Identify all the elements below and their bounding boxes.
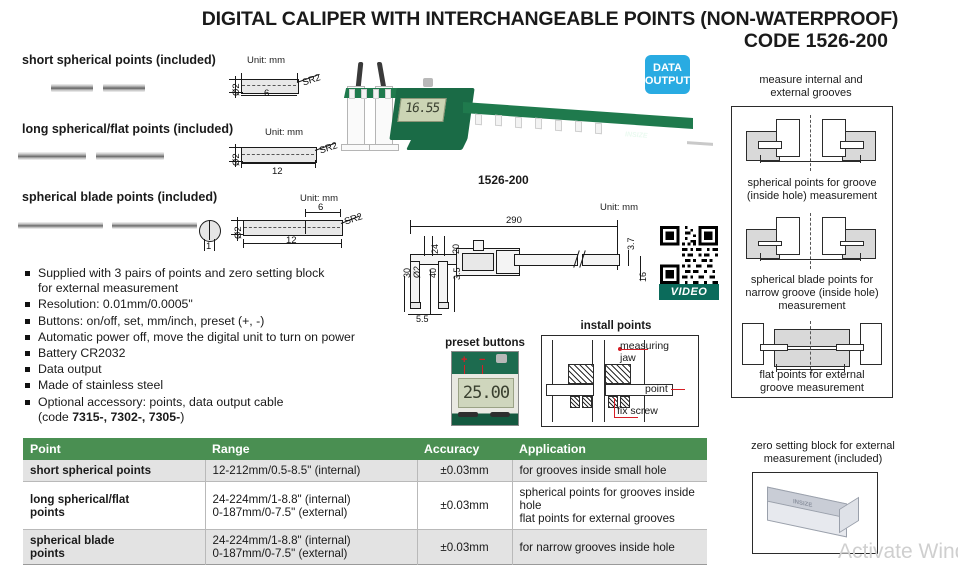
product-heading-long-spherical: long spherical/flat points (included) [22,122,233,136]
preset-lcd: 25.00 [458,378,514,408]
dim-beam-thickness: 3.7 [626,237,636,250]
cell-application: spherical points for grooves inside hole… [512,482,707,530]
table-row: short spherical points 12-212mm/0.5-8.5"… [23,460,707,482]
dim-radius-3: SR2 [343,211,364,227]
groove-measurement-panel: spherical points for groove (inside hole… [731,106,893,398]
badge-line-2: OUTPUT [645,75,690,88]
table-row: long spherical/flat points 24-224mm/1-8.… [23,482,707,530]
cell-range: 24-224mm/1-8.8" (internal) 0-187mm/0-7.5… [205,530,417,565]
dim-jaw-inner: 20 [451,244,461,254]
col-header-point: Point [23,438,205,460]
dim-point-diameter: Ø2 [412,266,422,278]
optional-codes: 7315-, 7302-, 7305- [72,410,180,424]
col-header-accuracy: Accuracy [417,438,512,460]
cell-range: 24-224mm/1-8.8" (internal) 0-187mm/0-7.5… [205,482,417,530]
install-points-title: install points [546,320,686,332]
product-heading-short-spherical: short spherical points (included) [22,53,216,67]
cell-accuracy: ±0.03mm [417,482,512,530]
dim-jaw-upper: 24 [430,244,440,254]
badge-line-1: DATA [653,62,682,75]
preset-lcd-value: 25.00 [459,379,513,407]
diagram-blade-points [732,211,890,273]
feature-item: Buttons: on/off, set, mm/inch, preset (+… [24,314,424,329]
features-list: Supplied with 3 pairs of points and zero… [24,266,424,426]
col-header-application: Application [512,438,707,460]
caliper-lcd-value: 16.55 [400,99,445,119]
dim-jaw-length: 40 [428,268,438,278]
caliper-model-label: 1526-200 [478,173,529,187]
photo-long-point-a [18,152,86,160]
dim-jaw-depth: 30 [402,268,412,278]
cell-point: long spherical/flat points [23,482,205,530]
page-title: DIGITAL CALIPER WITH INTERCHANGEABLE POI… [150,8,950,54]
title-main: DIGITAL CALIPER WITH INTERCHANGEABLE POI… [150,8,950,30]
dim-blade-thickness: 1 [206,241,211,252]
video-qr-block[interactable]: VIDEO [659,226,719,300]
photo-short-point-a [51,84,93,92]
specification-table: Point Range Accuracy Application short s… [23,438,707,565]
callout-point: point [645,383,668,395]
dim-length-3: 12 [286,235,297,246]
diagram-spherical-points [732,113,890,175]
zero-setting-block-caption: zero setting block for external measurem… [723,440,923,466]
drawing-long-spherical: Ø2 12 SR2 [215,136,330,182]
title-code: CODE 1526-200 [150,30,950,53]
preset-buttons-title: preset buttons [444,337,526,349]
table-header-row: Point Range Accuracy Application [23,438,707,460]
cell-point: spherical blade points [23,530,205,565]
qr-code-icon [659,226,719,284]
dim-total-length: 290 [506,215,522,226]
technical-drawing-caliper: 290 24 20 3.7 16 30 Ø2 40 3.5 5.5 [400,210,650,325]
dim-tip-length-3: 6 [318,202,323,213]
photo-short-point-b [103,84,145,92]
dim-diameter-2: Ø2 [231,153,242,166]
right-panel-title: measure internal and external grooves [725,74,897,100]
dim-step: 3.5 [452,267,462,280]
photo-blade-point-b [112,222,197,229]
table-row: spherical blade points 24-224mm/1-8.8" (… [23,530,707,565]
product-heading-blade: spherical blade points (included) [22,190,217,204]
feature-item: Battery CR2032 [24,346,424,361]
caption-blade-points: spherical blade points for narrow groove… [726,274,898,313]
cell-range: 12-212mm/0.5-8.5" (internal) [205,460,417,482]
dim-offset: 5.5 [416,314,429,324]
dim-length-1: 6 [264,88,269,99]
cell-accuracy: ±0.03mm [417,530,512,565]
photo-blade-point-a [18,222,103,229]
drawing-blade: 1 Ø2 6 12 SR2 [193,205,363,257]
caption-spherical-points: spherical points for groove (inside hole… [726,177,898,203]
feature-item: Made of stainless steel [24,378,424,393]
callout-fix-screw: fix screw [617,405,658,417]
unit-label-1: Unit: mm [247,55,285,66]
cell-accuracy: ±0.03mm [417,460,512,482]
callout-measuring-jaw: measuring jaw [620,340,669,364]
feature-item: Supplied with 3 pairs of points and zero… [24,266,424,296]
feature-item: Optional accessory: points, data output … [24,395,424,425]
cell-application: for narrow grooves inside hole [512,530,707,565]
caption-flat-points: flat points for external groove measurem… [726,369,898,395]
cell-application: for grooves inside small hole [512,460,707,482]
drawing-short-spherical: Ø2 6 SR2 [215,68,325,114]
dim-diameter-1: Ø2 [231,83,242,96]
data-output-badge: DATA OUTPUT [645,55,690,94]
photo-long-point-b [96,152,164,160]
video-badge-label: VIDEO [659,284,719,300]
caliper-brand: INSIZE [625,131,648,140]
datasheet-page: DIGITAL CALIPER WITH INTERCHANGEABLE POI… [0,0,958,570]
col-header-range: Range [205,438,417,460]
feature-item: Data output [24,362,424,377]
dim-length-2: 12 [272,166,283,177]
windows-activation-watermark: Activate Wind [838,540,958,564]
feature-item: Resolution: 0.01mm/0.0005" [24,297,424,312]
dim-radius-1: SR2 [301,72,322,88]
dim-diameter-3: Ø2 [233,226,244,239]
feature-item: Automatic power off, move the digital un… [24,330,424,345]
preset-buttons-photo: + − 25.00 [451,351,519,426]
dim-beam-height: 16 [638,272,648,282]
cell-point: short spherical points [23,460,205,482]
